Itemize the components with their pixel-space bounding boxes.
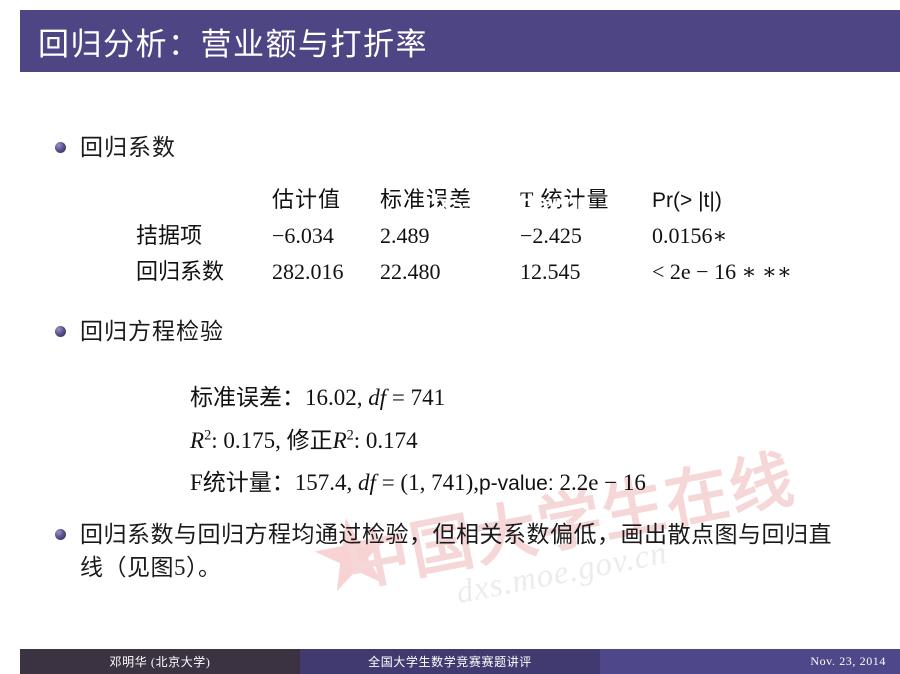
table-header-p-value: Pr(> |t|) [652,182,792,218]
bullet-item-equation-test: 回归方程检验 [55,316,224,347]
table-row: 拮据项 −6.034 2.489 −2.425 0.0156∗ [136,218,792,254]
cell-intercept-t-value: −2.425 [520,218,652,254]
bullet-dot-icon [55,529,66,540]
cell-intercept-p-value: 0.0156∗ [652,218,792,254]
bullet-label-equation-test: 回归方程检验 [80,316,224,347]
equation-std-error: 标准误差：16.02, df = 741 [190,377,646,420]
cell-slope-std-error: 22.480 [380,254,520,290]
eq-std-error-label: 标准误差： [190,385,305,410]
footer-author: 邓明华 (北京大学) [20,649,300,674]
bullet-label-coefficients: 回归系数 [80,132,176,163]
footer-date: Nov. 23, 2014 [600,649,900,674]
table-row: 回归系数 282.016 22.480 12.545 < 2e − 16 ∗ ∗… [136,254,792,290]
slide-title-bar: 回归分析：营业额与打折率 [20,10,900,72]
bullet-dot-icon [55,326,66,337]
eq-adj-r-value: : 0.174 [354,428,418,453]
equation-f-statistic: F统计量：157.4, df = (1, 741),p-value: 2.2e … [190,462,646,505]
equation-block: 标准误差：16.02, df = 741 R2: 0.175, 修正R2: 0.… [190,377,646,505]
bullet-item-conclusion: 回归系数与回归方程均通过检验，但相关系数偏低，画出散点图与回归直线（见图5）。 [55,519,855,584]
eq-f-df-value: = (1, 741), [382,470,479,495]
slide-canvas: 回归分析：营业额与打折率 ★ 中国大学生在线 dxs.moe.gov.cn 回归… [0,0,900,674]
cell-slope-t-value: 12.545 [520,254,652,290]
cell-slope-p-value: < 2e − 16 ∗ ∗∗ [652,254,792,290]
bullet-item-coefficients: 回归系数 [55,132,176,163]
eq-f-label: F统计量： [190,470,295,495]
row-label-intercept: 拮据项 [136,218,272,254]
slide-footer: 邓明华 (北京大学) 全国大学生数学竞赛赛题讲评 Nov. 23, 2014 [20,649,900,674]
eq-f-pvalue: 2.2e − 16 [559,470,645,495]
eq-f-df-symbol: df [358,470,376,495]
eq-f-pvalue-label: p-value: [479,472,554,495]
table-header-p-value-text: Pr(> |t|) [652,189,722,212]
page-title: 回归分析：营业额与打折率 [20,19,428,64]
slide-content: 回归系数 估计值 标准误差 T 统计量 Pr(> |t|) 拮据项 −6.034… [0,72,900,637]
cell-intercept-estimate: −6.034 [272,218,380,254]
table-header-blank [136,182,272,218]
eq-std-error-df-value: = 741 [392,385,445,410]
equation-r-squared: R2: 0.175, 修正R2: 0.174 [190,420,646,463]
eq-adj-r-symbol: R [333,428,347,453]
eq-std-error-value: 16.02, [305,385,363,410]
cell-slope-estimate: 282.016 [272,254,380,290]
footer-title: 全国大学生数学竞赛赛题讲评 [300,649,600,674]
cell-intercept-std-error: 2.489 [380,218,520,254]
table-header-estimate: 估计值 [272,182,380,218]
row-label-slope: 回归系数 [136,254,272,290]
watermark-url-overlay: dxs.moe.gov.cn [425,190,590,217]
bullet-dot-icon [55,142,66,153]
eq-r-symbol: R [190,428,204,453]
eq-std-error-df-symbol: df [368,385,386,410]
eq-adj-r-exponent: 2 [347,427,354,443]
conclusion-text: 回归系数与回归方程均通过检验，但相关系数偏低，画出散点图与回归直线（见图5）。 [80,519,835,584]
eq-r-value: : 0.175, 修正 [211,428,332,453]
eq-f-value: 157.4, [295,470,353,495]
